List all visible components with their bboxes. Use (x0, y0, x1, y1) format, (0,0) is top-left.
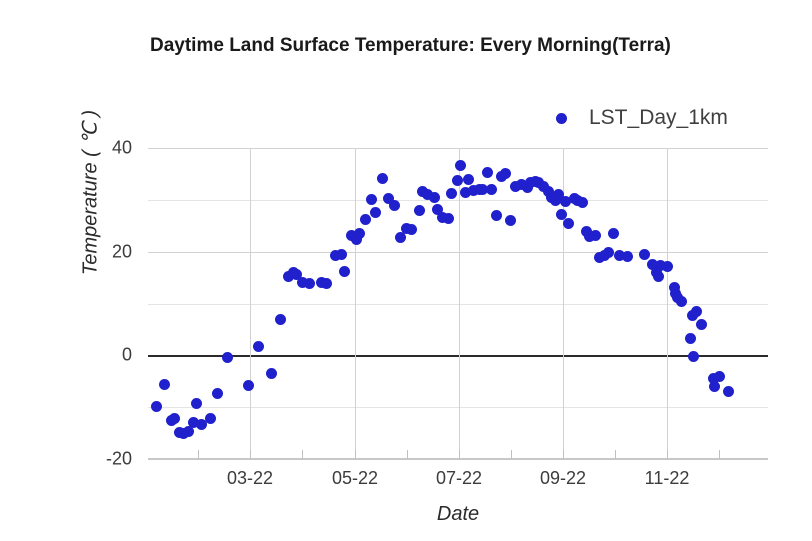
y-axis-title: Temperature ( ℃ ) (78, 83, 103, 303)
data-point (446, 188, 457, 199)
data-point (714, 371, 725, 382)
x-tick-mark (302, 450, 303, 459)
data-point (253, 341, 264, 352)
x-tick-mark (719, 450, 720, 459)
data-point (563, 218, 574, 229)
x-tick-mark (563, 450, 564, 459)
data-point (639, 249, 650, 260)
x-tick-label: 05-22 (332, 468, 378, 489)
data-point (354, 228, 365, 239)
legend-label: LST_Day_1km (589, 106, 728, 130)
data-point (463, 174, 474, 185)
data-point (336, 249, 347, 260)
gridline-vertical (250, 148, 251, 459)
data-point (608, 228, 619, 239)
gridline-vertical (355, 148, 356, 459)
data-point (389, 200, 400, 211)
data-point (395, 232, 406, 243)
data-point (366, 194, 377, 205)
data-point (486, 184, 497, 195)
data-point (696, 319, 707, 330)
data-point (590, 230, 601, 241)
x-tick-label: 07-22 (436, 468, 482, 489)
y-tick-label: 0 (80, 345, 132, 366)
data-point (151, 401, 162, 412)
data-point (622, 251, 633, 262)
data-point (603, 247, 614, 258)
data-point (505, 215, 516, 226)
data-point (406, 224, 417, 235)
y-tick-label: 40 (80, 138, 132, 159)
gridline-vertical (667, 148, 668, 459)
data-point (443, 213, 454, 224)
data-point (662, 261, 673, 272)
data-point (360, 214, 371, 225)
data-point (685, 333, 696, 344)
data-point (212, 388, 223, 399)
data-point (370, 207, 381, 218)
data-point (482, 167, 493, 178)
x-tick-mark (459, 450, 460, 459)
data-point (304, 278, 315, 289)
data-point (429, 192, 440, 203)
data-point (169, 413, 180, 424)
chart-legend: LST_Day_1km (556, 106, 728, 130)
y-tick-label: -20 (80, 449, 132, 470)
data-point (653, 271, 664, 282)
x-tick-label: 03-22 (227, 468, 273, 489)
plot-area (148, 148, 768, 459)
data-point (676, 296, 687, 307)
chart-title: Daytime Land Surface Temperature: Every … (150, 33, 710, 58)
data-point (205, 413, 216, 424)
data-point (691, 306, 702, 317)
data-point (191, 398, 202, 409)
data-point (709, 381, 720, 392)
x-tick-mark (198, 450, 199, 459)
data-point (275, 314, 286, 325)
scatter-chart: Daytime Land Surface Temperature: Every … (0, 0, 812, 541)
x-axis-title: Date (148, 503, 768, 526)
x-tick-mark (615, 450, 616, 459)
data-point (500, 168, 511, 179)
data-point (491, 210, 502, 221)
data-point (577, 197, 588, 208)
x-tick-mark (250, 450, 251, 459)
data-point (452, 175, 463, 186)
data-point (377, 173, 388, 184)
data-point (414, 205, 425, 216)
y-tick-label: 20 (80, 241, 132, 262)
data-point (723, 386, 734, 397)
data-point (222, 352, 233, 363)
data-point (688, 351, 699, 362)
x-tick-label: 09-22 (540, 468, 586, 489)
data-point (321, 278, 332, 289)
data-point (266, 368, 277, 379)
x-tick-label: 11-22 (645, 468, 690, 489)
x-tick-mark (667, 450, 668, 459)
data-point (159, 379, 170, 390)
data-point (455, 160, 466, 171)
x-tick-mark (511, 450, 512, 459)
data-point (339, 266, 350, 277)
x-tick-mark (407, 450, 408, 459)
data-point (243, 380, 254, 391)
legend-marker-icon (556, 113, 567, 124)
x-tick-mark (355, 450, 356, 459)
